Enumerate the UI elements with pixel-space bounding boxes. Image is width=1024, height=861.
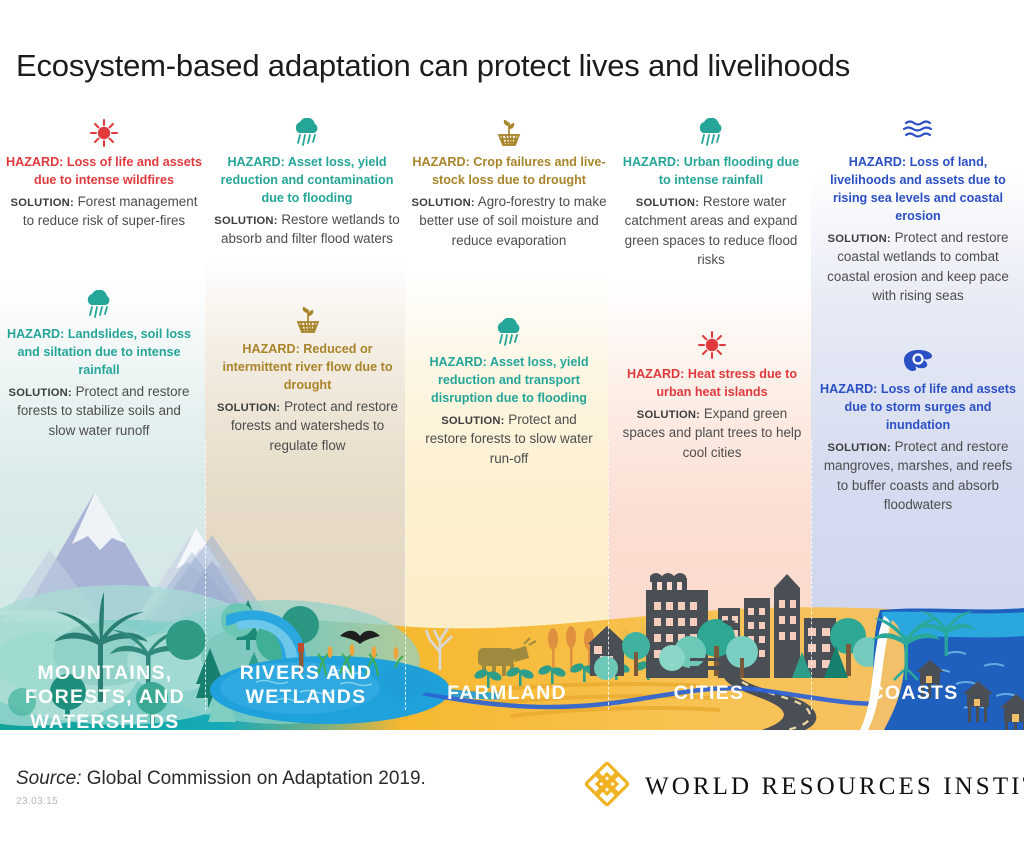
hazard-text: HAZARD: Loss of life and assets due to s… — [820, 381, 1016, 435]
hazard-text: HAZARD: Loss of land, livelihoods and as… — [818, 154, 1018, 226]
infographic-page: Ecosystem-based adaptation can protect l… — [0, 0, 1024, 861]
solution-text: SOLUTION: Restore water catchment areas … — [616, 192, 806, 270]
wri-wordmark: WORLD RESOURCES INSTITUTE — [645, 773, 1024, 801]
card-wildfire: HAZARD: Loss of life and assets due to i… — [6, 118, 202, 231]
solution-label: SOLUTION: — [214, 215, 277, 227]
solution-text: SOLUTION: Restore wetlands to absorb and… — [209, 210, 405, 249]
rain-cloud-icon — [209, 118, 405, 148]
card-heat-stress: HAZARD: Heat stress due to urban heat is… — [618, 330, 806, 462]
card-storm-surge: HAZARD: Loss of life and assets due to s… — [820, 345, 1016, 515]
card-flood-wetlands: HAZARD: Asset loss, yield reduction and … — [209, 118, 405, 249]
solution-text: SOLUTION: Protect and restore mangroves,… — [820, 437, 1016, 515]
page-title: Ecosystem-based adaptation can protect l… — [16, 48, 850, 84]
date-code: 23.03.15 — [16, 796, 58, 807]
rain-cloud-icon — [423, 318, 595, 348]
solution-text: SOLUTION: Protect and restore coastal we… — [818, 228, 1018, 306]
zone-label-mountains: MOUNTAINS, FORESTS, AND WATERSHEDS — [10, 661, 200, 734]
column-divider-3 — [608, 440, 609, 710]
zone-label-coasts: COASTS — [816, 681, 1012, 705]
seedling-basket-icon — [409, 118, 609, 148]
card-drought-crops: HAZARD: Crop failures and live-stock los… — [409, 118, 609, 250]
rain-cloud-icon — [4, 290, 194, 320]
zone-label-farmland: FARMLAND — [412, 681, 602, 705]
solution-text: SOLUTION: Forest management to reduce ri… — [6, 192, 202, 231]
hazard-text: HAZARD: Reduced or intermittent river fl… — [215, 341, 400, 395]
card-urban-flooding: HAZARD: Urban flooding due to intense ra… — [616, 118, 806, 270]
solution-label: SOLUTION: — [636, 197, 699, 209]
solution-label: SOLUTION: — [11, 197, 74, 209]
solution-label: SOLUTION: — [828, 233, 891, 245]
card-river-flow: HAZARD: Reduced or intermittent river fl… — [215, 305, 400, 455]
solution-text: SOLUTION: Agro-forestry to make better u… — [409, 192, 609, 251]
rain-cloud-icon — [616, 118, 806, 148]
solution-label: SOLUTION: — [637, 409, 700, 421]
sun-icon — [618, 330, 806, 360]
hazard-text: HAZARD: Heat stress due to urban heat is… — [618, 366, 806, 402]
solution-text: SOLUTION: Protect and restore forests an… — [215, 397, 400, 456]
waves-icon — [818, 118, 1018, 148]
wri-knot-icon — [585, 762, 629, 811]
card-sea-level-rise: HAZARD: Loss of land, livelihoods and as… — [818, 118, 1018, 306]
hazard-text: HAZARD: Asset loss, yield reduction and … — [209, 154, 405, 208]
solution-label: SOLUTION: — [441, 415, 504, 427]
solution-text: SOLUTION: Protect and restore forests to… — [423, 410, 595, 469]
column-divider-2 — [405, 440, 406, 710]
sun-icon — [6, 118, 202, 148]
hazard-text: HAZARD: Landslides, soil loss and siltat… — [4, 326, 194, 380]
source-text: Global Commission on Adaptation 2019. — [81, 768, 425, 789]
solution-label: SOLUTION: — [828, 442, 891, 454]
hazard-text: HAZARD: Loss of life and assets due to i… — [6, 154, 202, 190]
solution-label: SOLUTION: — [9, 387, 72, 399]
hazard-text: HAZARD: Crop failures and live-stock los… — [409, 154, 609, 190]
solution-label: SOLUTION: — [217, 402, 280, 414]
hurricane-icon — [820, 345, 1016, 375]
column-divider-4 — [811, 440, 812, 710]
hazard-text: HAZARD: Urban flooding due to intense ra… — [616, 154, 806, 190]
column-divider-1 — [205, 440, 206, 710]
zone-label-rivers: RIVERS AND WETLANDS — [212, 661, 400, 710]
solution-text: SOLUTION: Protect and restore forests to… — [4, 382, 194, 441]
hazard-text: HAZARD: Asset loss, yield reduction and … — [423, 354, 595, 408]
solution-text: SOLUTION: Expand green spaces and plant … — [618, 404, 806, 463]
source-line: Source: Global Commission on Adaptation … — [16, 768, 426, 790]
wri-logo: WORLD RESOURCES INSTITUTE — [585, 762, 1024, 811]
source-prefix: Source: — [16, 768, 81, 789]
seedling-basket-icon — [215, 305, 400, 335]
zone-label-cities: CITIES — [614, 681, 804, 705]
solution-label: SOLUTION: — [411, 197, 474, 209]
card-transport-flooding: HAZARD: Asset loss, yield reduction and … — [423, 318, 595, 468]
card-landslides: HAZARD: Landslides, soil loss and siltat… — [4, 290, 194, 440]
